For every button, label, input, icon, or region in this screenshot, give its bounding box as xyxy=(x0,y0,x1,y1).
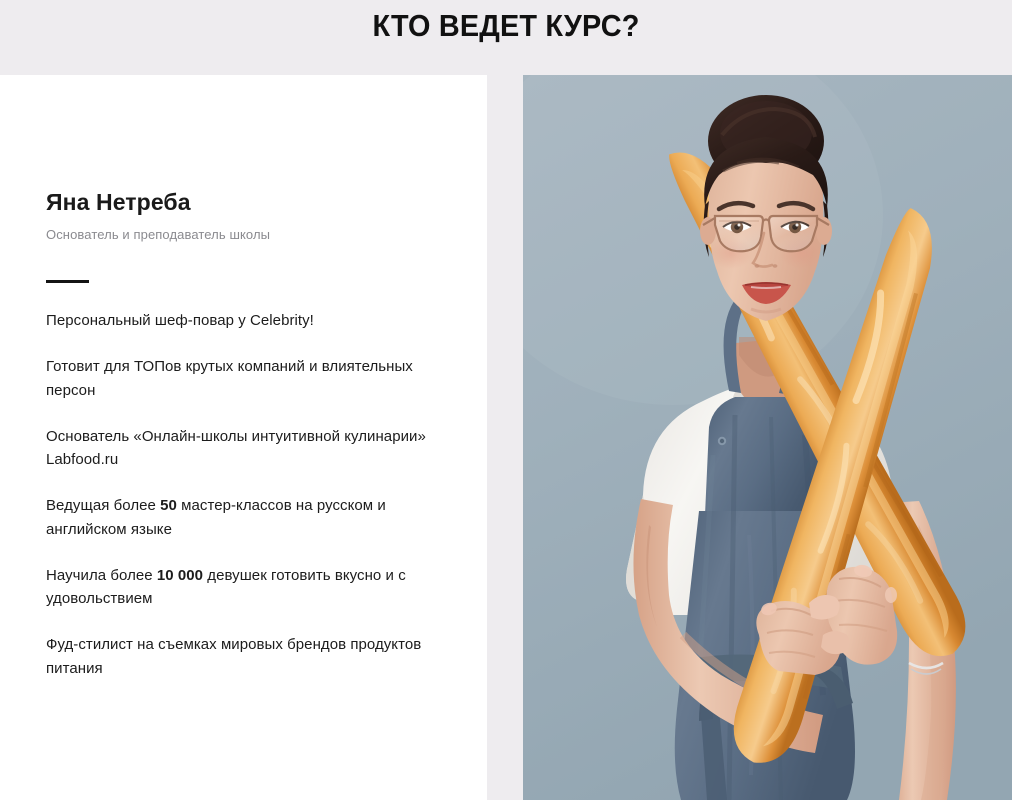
instructor-bio: Яна Нетреба Основатель и преподаватель ш… xyxy=(46,190,456,680)
course-instructor-section: КТО ВЕДЕТ КУРС? Яна Нетреба Основатель и… xyxy=(0,0,1012,800)
fact-food-stylist: Фуд-стилист на съемках мировых брендов п… xyxy=(46,633,456,680)
section-divider xyxy=(46,280,89,283)
instructor-photo-illustration xyxy=(523,75,1012,800)
header-band: КТО ВЕДЕТ КУРС? xyxy=(0,0,1012,75)
fact-text: Научила более xyxy=(46,567,157,584)
page-title: КТО ВЕДЕТ КУРС? xyxy=(35,0,976,75)
fact-text: Готовит для ТОПов крутых компаний и влия… xyxy=(46,358,413,398)
content-area: Яна Нетреба Основатель и преподаватель ш… xyxy=(0,75,1012,800)
fact-cooks-for-tops: Готовит для ТОПов крутых компаний и влия… xyxy=(46,355,456,402)
fact-founder-school: Основатель «Онлайн-школы интуитивной кул… xyxy=(46,425,456,472)
fact-masterclasses: Ведущая более 50 мастер-классов на русск… xyxy=(46,494,456,541)
fact-text: Фуд-стилист на съемках мировых брендов п… xyxy=(46,636,421,676)
fact-text: Персональный шеф-повар у Celebrity! xyxy=(46,312,314,329)
instructor-photo xyxy=(523,75,1012,800)
fact-text: Основатель «Онлайн-школы интуитивной кул… xyxy=(46,428,426,468)
fact-text: Ведущая более xyxy=(46,497,160,514)
instructor-info-panel: Яна Нетреба Основатель и преподаватель ш… xyxy=(0,75,487,800)
fact-students-taught: Научила более 10 000 девушек готовить вк… xyxy=(46,564,456,611)
column-gap xyxy=(487,75,523,800)
instructor-name: Яна Нетреба xyxy=(46,190,456,215)
fact-personal-chef: Персональный шеф-повар у Celebrity! xyxy=(46,309,456,332)
fact-highlight: 50 xyxy=(160,497,177,514)
instructor-role: Основатель и преподаватель школы xyxy=(46,227,456,244)
fact-highlight: 10 000 xyxy=(157,567,203,584)
instructor-facts-list: Персональный шеф-повар у Celebrity!Готов… xyxy=(46,309,456,680)
